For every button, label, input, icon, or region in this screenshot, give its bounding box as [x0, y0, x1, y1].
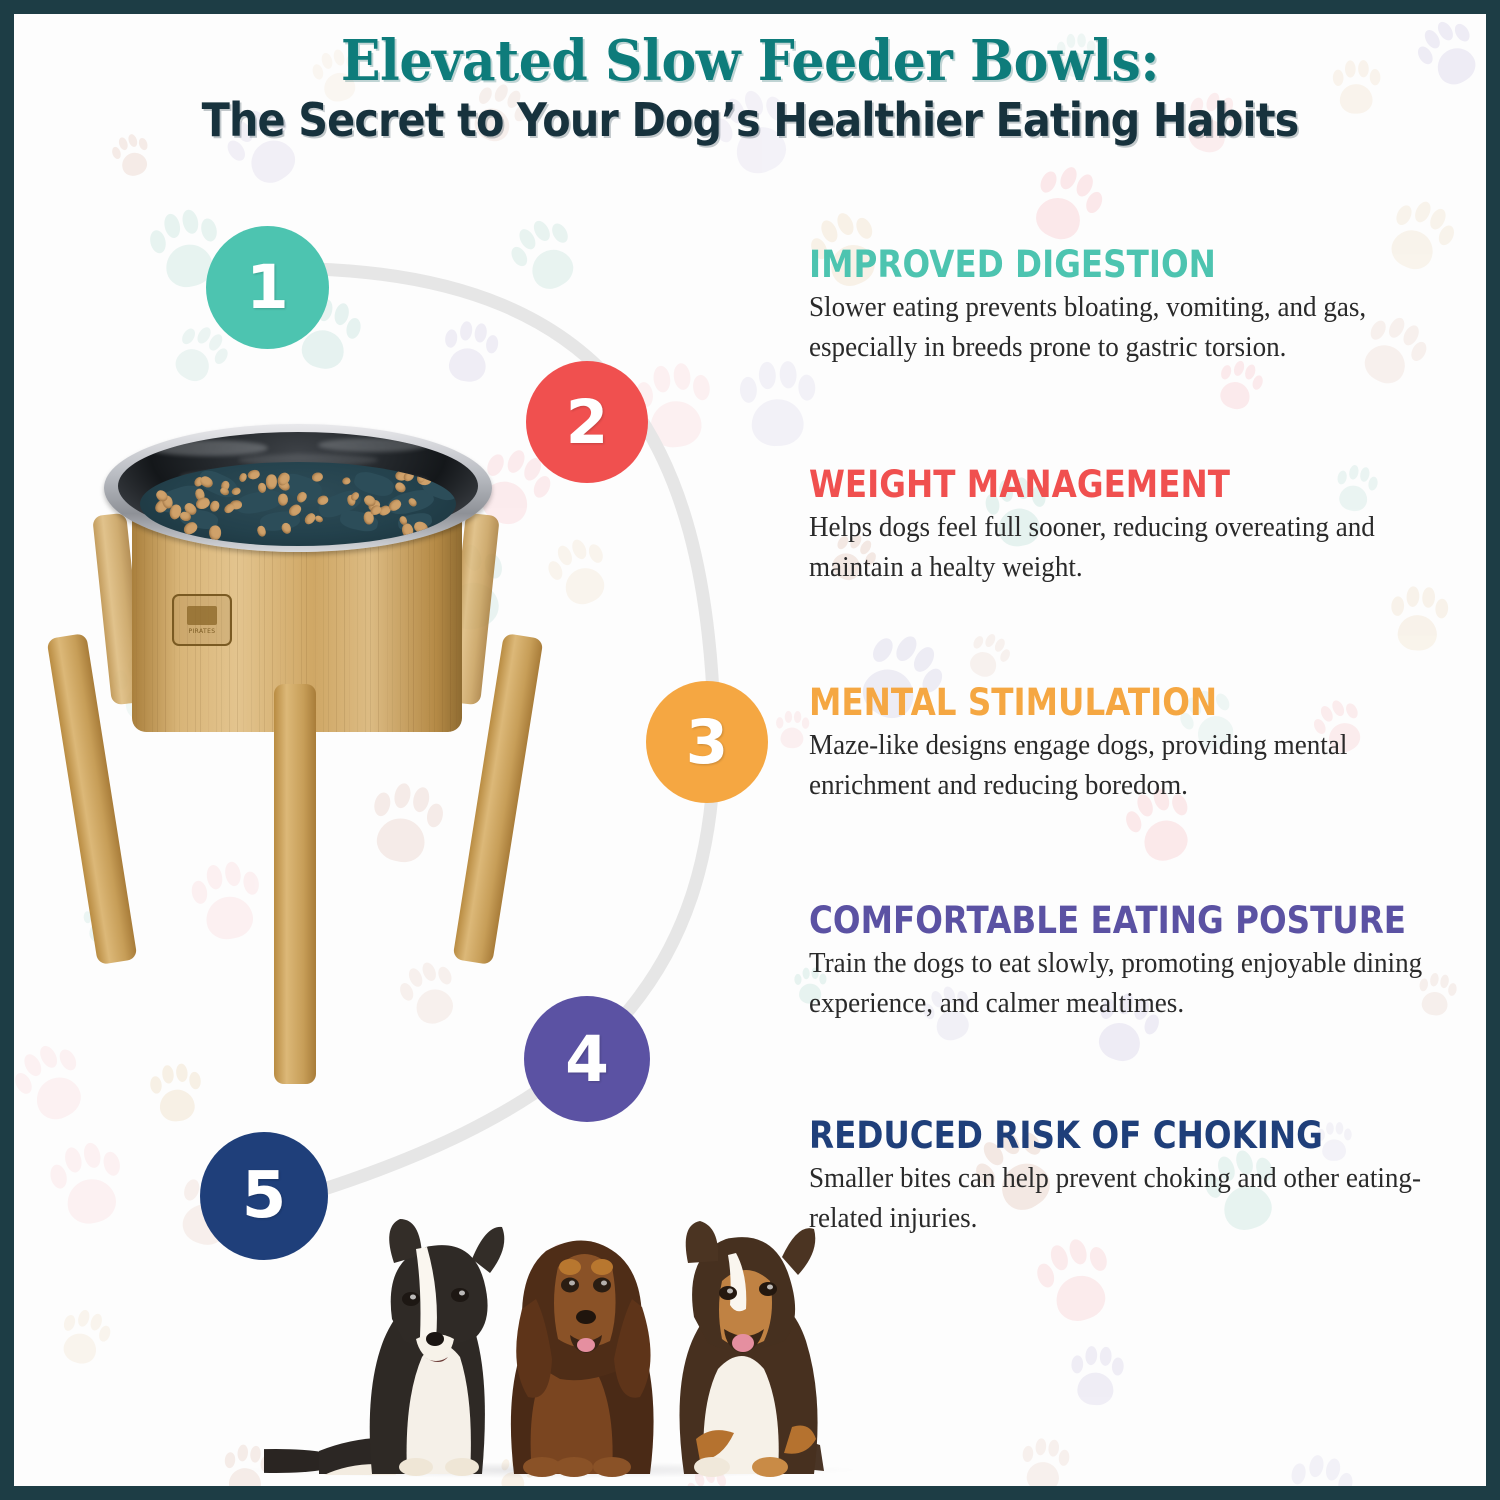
step-number-2-label: 2 — [566, 387, 608, 458]
kibble-piece — [393, 480, 407, 493]
step-number-3-label: 3 — [686, 707, 728, 778]
product-image-elevated-bowl: PIRATES — [44, 384, 564, 1164]
infographic-poster: Elevated Slow Feeder Bowls: The Secret t… — [0, 0, 1500, 1500]
page-title-line1: Elevated Slow Feeder Bowls: — [66, 32, 1435, 91]
benefit-body-1: Slower eating prevents bloating, vomitin… — [809, 288, 1436, 369]
dog-cocker-spaniel — [511, 1240, 654, 1477]
bamboo-grain-line — [144, 492, 145, 732]
steel-highlight — [148, 440, 268, 456]
dog-australian-shepherd — [680, 1221, 825, 1477]
kibble-piece — [247, 469, 261, 481]
pirate-flag-icon — [187, 606, 217, 625]
silicone-maze-insert — [140, 462, 456, 546]
dog-border-collie — [264, 1219, 504, 1476]
benefit-block-2: WEIGHT MANAGEMENT Helps dogs feel full s… — [809, 466, 1469, 589]
benefit-body-5: Smaller bites can help prevent choking a… — [809, 1159, 1436, 1240]
step-number-3: 3 — [646, 681, 768, 803]
benefit-block-3: MENTAL STIMULATION Maze-like designs eng… — [809, 684, 1469, 807]
kibble-piece — [238, 472, 248, 483]
step-number-2: 2 — [526, 361, 648, 483]
brand-logo-plaque: PIRATES — [172, 594, 232, 646]
step-number-4-label: 4 — [565, 1023, 609, 1096]
step-number-1-label: 1 — [246, 252, 288, 323]
stand-leg-center — [274, 684, 316, 1084]
step-number-1: 1 — [206, 226, 329, 349]
benefit-body-2: Helps dogs feel full sooner, reducing ov… — [809, 508, 1436, 589]
step-number-5: 5 — [200, 1132, 328, 1260]
benefit-block-1: IMPROVED DIGESTION Slower eating prevent… — [809, 246, 1469, 369]
brand-label: PIRATES — [188, 628, 215, 635]
benefit-block-5: REDUCED RISK OF CHOKING Smaller bites ca… — [809, 1117, 1469, 1240]
bamboo-grain-line — [450, 492, 451, 732]
kibble-piece — [209, 525, 222, 541]
benefit-heading-5: REDUCED RISK OF CHOKING — [809, 1117, 1390, 1155]
benefit-body-3: Maze-like designs engage dogs, providing… — [809, 726, 1436, 807]
step-number-4: 4 — [524, 996, 650, 1122]
page-title-line2: The Secret to Your Dog’s Healthier Eatin… — [88, 95, 1413, 146]
benefit-heading-1: IMPROVED DIGESTION — [809, 246, 1390, 284]
three-dogs-illustration — [264, 1189, 834, 1479]
benefit-body-4: Train the dogs to eat slowly, promoting … — [809, 944, 1436, 1025]
bamboo-grain-line — [456, 492, 457, 732]
bamboo-grain-line — [136, 492, 137, 732]
kibble-piece — [265, 475, 276, 490]
benefit-heading-3: MENTAL STIMULATION — [809, 684, 1390, 722]
benefit-heading-4: COMFORTABLE EATING POSTURE — [809, 902, 1390, 940]
kibble-piece — [341, 477, 351, 486]
steel-highlight — [318, 438, 428, 452]
title-block: Elevated Slow Feeder Bowls: The Secret t… — [14, 32, 1486, 146]
step-number-5-label: 5 — [242, 1159, 287, 1233]
dogs-photo-group — [264, 1189, 834, 1479]
benefit-heading-2: WEIGHT MANAGEMENT — [809, 466, 1390, 504]
kibble-piece — [209, 500, 220, 513]
kibble-piece — [278, 493, 289, 506]
benefit-block-4: COMFORTABLE EATING POSTURE Train the dog… — [809, 902, 1469, 1025]
poster-canvas: Elevated Slow Feeder Bowls: The Secret t… — [14, 14, 1486, 1486]
